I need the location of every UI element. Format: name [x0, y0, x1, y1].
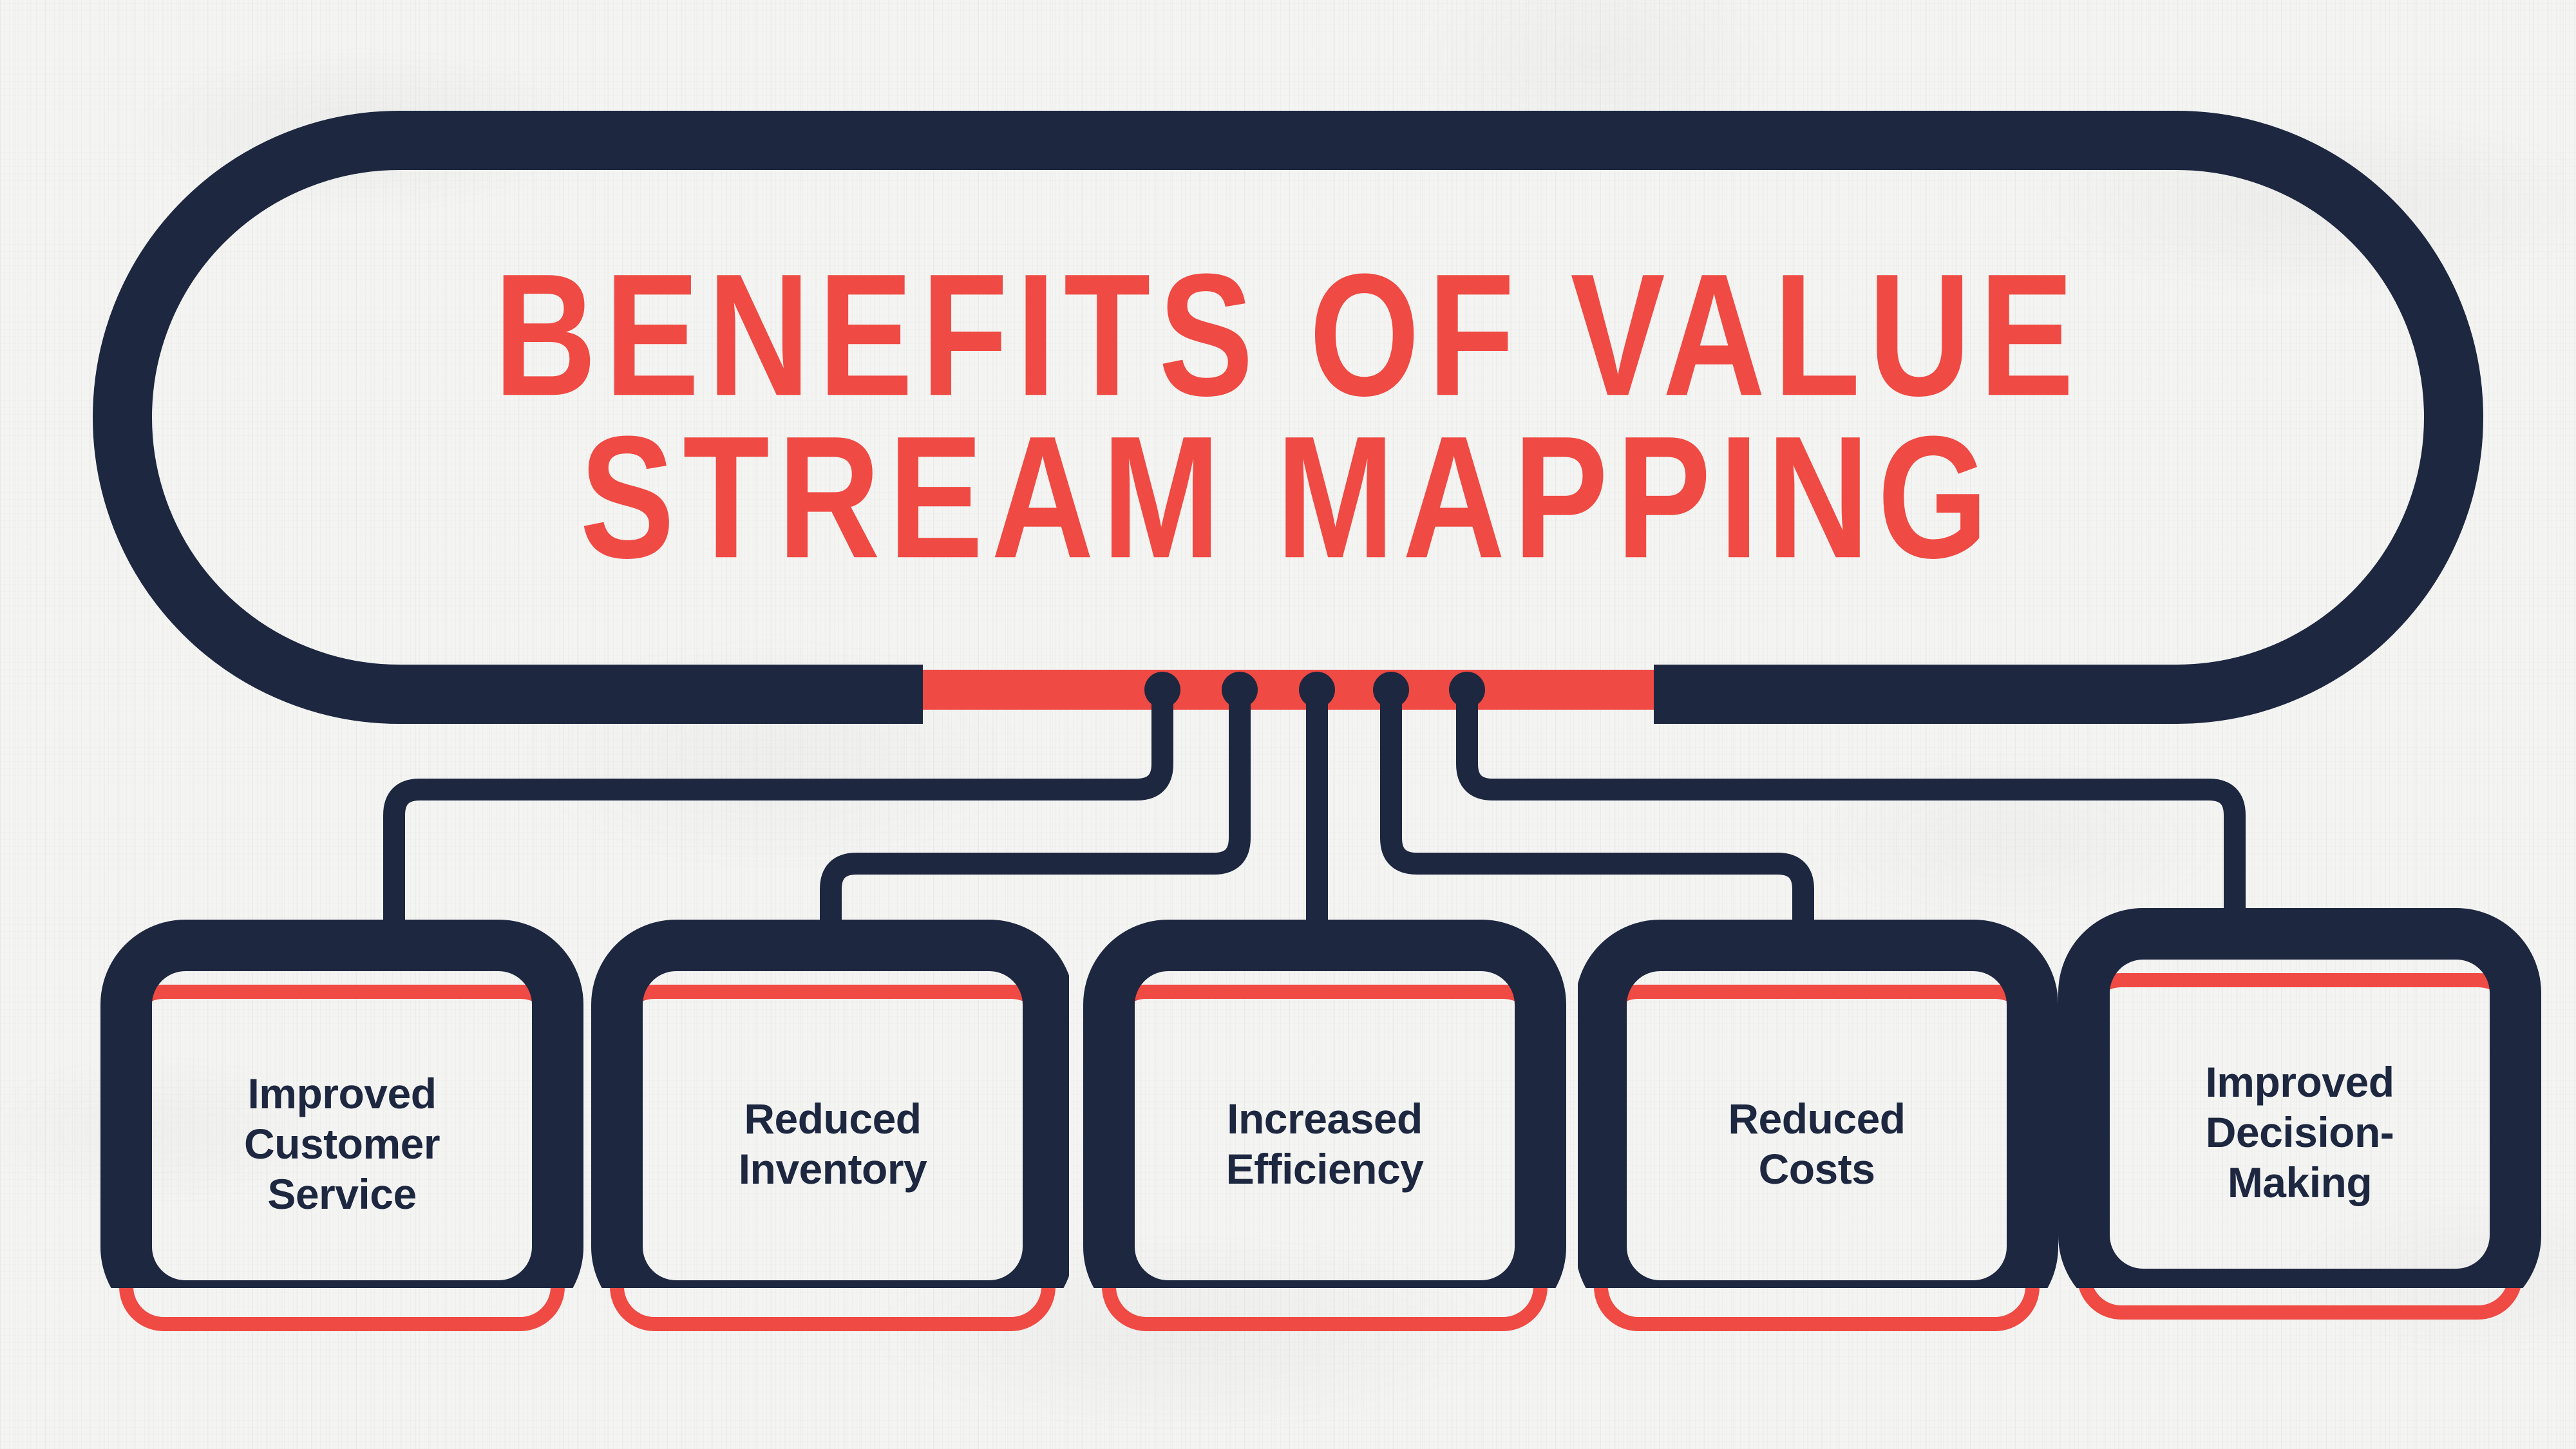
- connector-dot-5[interactable]: [1449, 672, 1485, 708]
- red-spine-bar: [923, 670, 1654, 710]
- title-capsule-outline: [122, 140, 2454, 694]
- card-red-outline: [2084, 980, 2515, 1312]
- benefit-card-reduced-costs[interactable]: [1601, 945, 2032, 1324]
- card-navy-frame: [126, 945, 558, 1306]
- card-red-outline: [617, 992, 1048, 1324]
- connector-path-2: [831, 690, 1240, 935]
- benefit-card-improved-customer-service[interactable]: [126, 945, 558, 1324]
- connector-dot-4[interactable]: [1373, 672, 1409, 708]
- connector-lines: [394, 690, 2235, 935]
- connector-path-5: [1467, 690, 2235, 935]
- card-red-outline: [1109, 992, 1540, 1324]
- diagram-vector-art: [0, 0, 2576, 1449]
- card-red-outline: [126, 992, 558, 1324]
- connector-path-1: [394, 690, 1162, 935]
- benefit-card-reduced-inventory[interactable]: [617, 945, 1048, 1324]
- infographic-canvas: BENEFITS OF VALUE STREAM MAPPING Improve…: [0, 0, 2576, 1449]
- benefit-card-improved-decision-making[interactable]: [2084, 934, 2515, 1312]
- title-capsule: [122, 140, 2454, 694]
- connector-dot-2[interactable]: [1222, 672, 1258, 708]
- card-navy-frame: [1109, 945, 1540, 1306]
- benefit-card-increased-efficiency[interactable]: [1109, 945, 1540, 1324]
- card-navy-frame: [617, 945, 1048, 1306]
- card-navy-frame: [2084, 934, 2515, 1294]
- card-red-outline: [1601, 992, 2032, 1324]
- connector-dot-1[interactable]: [1144, 672, 1180, 708]
- connector-dot-3[interactable]: [1299, 672, 1335, 708]
- connector-path-4: [1391, 690, 1803, 935]
- card-navy-frame: [1601, 945, 2032, 1306]
